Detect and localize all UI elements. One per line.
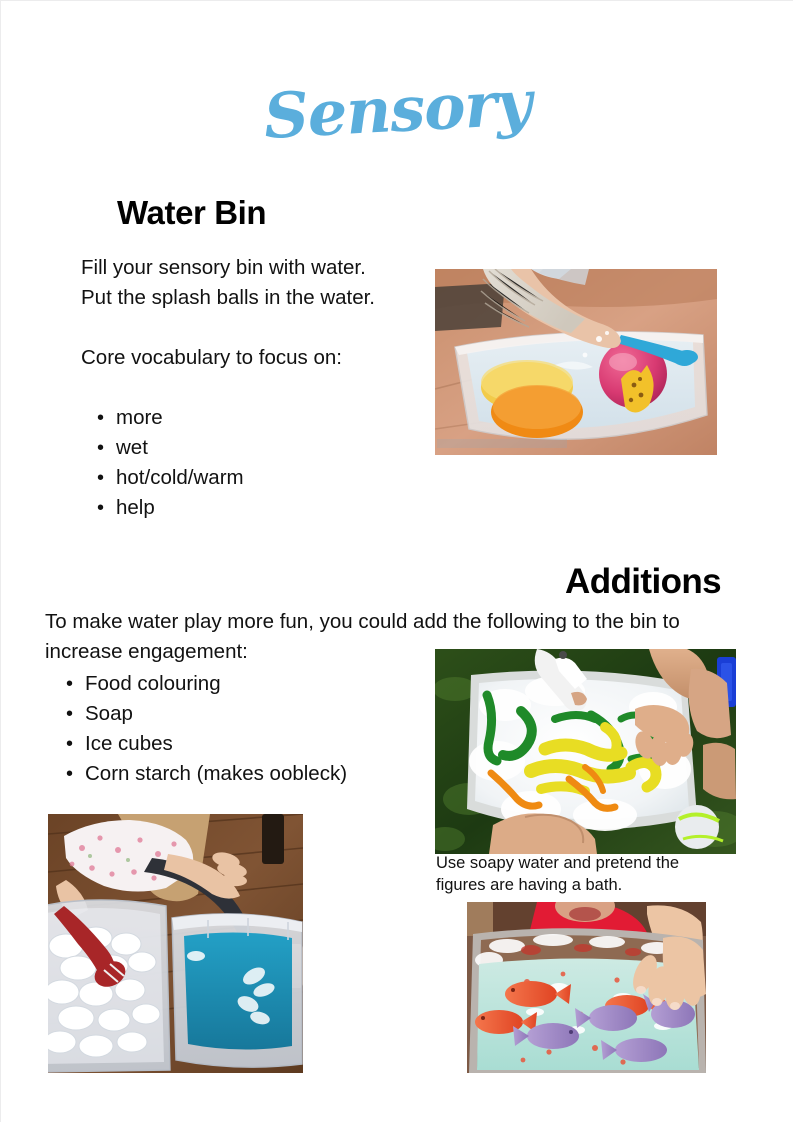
section-heading-additions: Additions [565,562,721,602]
list-item: more [116,403,401,433]
list-item: wet [116,433,401,463]
section-heading-water-bin: Water Bin [117,194,266,232]
section-body-water-bin: Fill your sensory bin with water. Put th… [81,253,401,523]
water-bin-paragraph-2: Core vocabulary to focus on: [81,343,401,373]
caption-soap-photo: Use soapy water and pretend the figures … [436,852,718,896]
water-bin-paragraph-1: Fill your sensory bin with water. Put th… [81,253,401,313]
photo-soap-foam-artwork [435,649,736,854]
photo-ice-cubes [48,814,303,1073]
photo-water-bin-artwork [435,269,717,455]
photo-soap-foam [435,649,736,854]
photo-fish-bath-artwork [467,902,706,1073]
list-item: help [116,493,401,523]
document-page: Sensory Water Bin Fill your sensory bin … [0,0,793,1122]
photo-ice-cubes-artwork [48,814,303,1073]
page-title: Sensory [0,58,793,161]
list-item: hot/cold/warm [116,463,401,493]
photo-water-bin [435,269,717,455]
water-bin-vocabulary-list: more wet hot/cold/warm help [81,403,401,523]
photo-fish-bath [467,902,706,1073]
